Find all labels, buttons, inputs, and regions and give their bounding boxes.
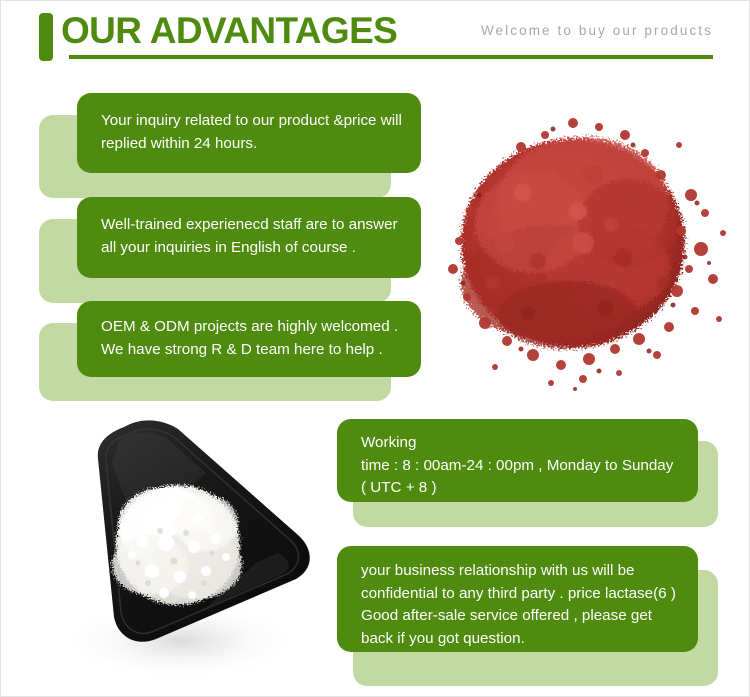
advantage-text: Well-trained experienecd staff are to an… [101, 214, 405, 259]
advantage-card-oem-odm: OEM & ODM projects are highly welcomed .… [39, 301, 421, 401]
card-body: Working time : 8 : 00am-24 : 00pm , Mond… [337, 419, 698, 502]
card-body: Your inquiry related to our product &pri… [77, 93, 421, 173]
card-body: OEM & ODM projects are highly welcomed .… [77, 301, 421, 377]
title-accent-bar [39, 13, 53, 61]
advantage-text: your business relationship with us will … [361, 560, 682, 650]
card-body: Well-trained experienecd staff are to an… [77, 197, 421, 278]
advantages-banner: OUR ADVANTAGES Welcome to buy our produc… [0, 0, 750, 697]
header: OUR ADVANTAGES Welcome to buy our produc… [1, 1, 750, 73]
card-body: your business relationship with us will … [337, 546, 698, 652]
header-tagline: Welcome to buy our products [481, 23, 713, 38]
page-title: OUR ADVANTAGES [61, 9, 397, 53]
advantage-card-trained-staff: Well-trained experienecd staff are to an… [39, 197, 421, 305]
red-powder-image [433, 83, 745, 405]
title-underline [69, 55, 713, 59]
red-powder-illustration [433, 83, 745, 405]
advantage-card-confidentiality: your business relationship with us will … [337, 546, 719, 686]
advantage-text: Working time : 8 : 00am-24 : 00pm , Mond… [361, 432, 682, 500]
advantage-text: OEM & ODM projects are highly welcomed .… [101, 316, 405, 361]
advantage-text: Your inquiry related to our product &pri… [101, 110, 405, 155]
white-powder-dish-illustration [46, 413, 346, 691]
advantage-card-inquiry-reply: Your inquiry related to our product &pri… [39, 93, 421, 198]
advantage-card-working-hours: Working time : 8 : 00am-24 : 00pm , Mond… [337, 419, 719, 529]
white-powder-image [46, 413, 346, 691]
